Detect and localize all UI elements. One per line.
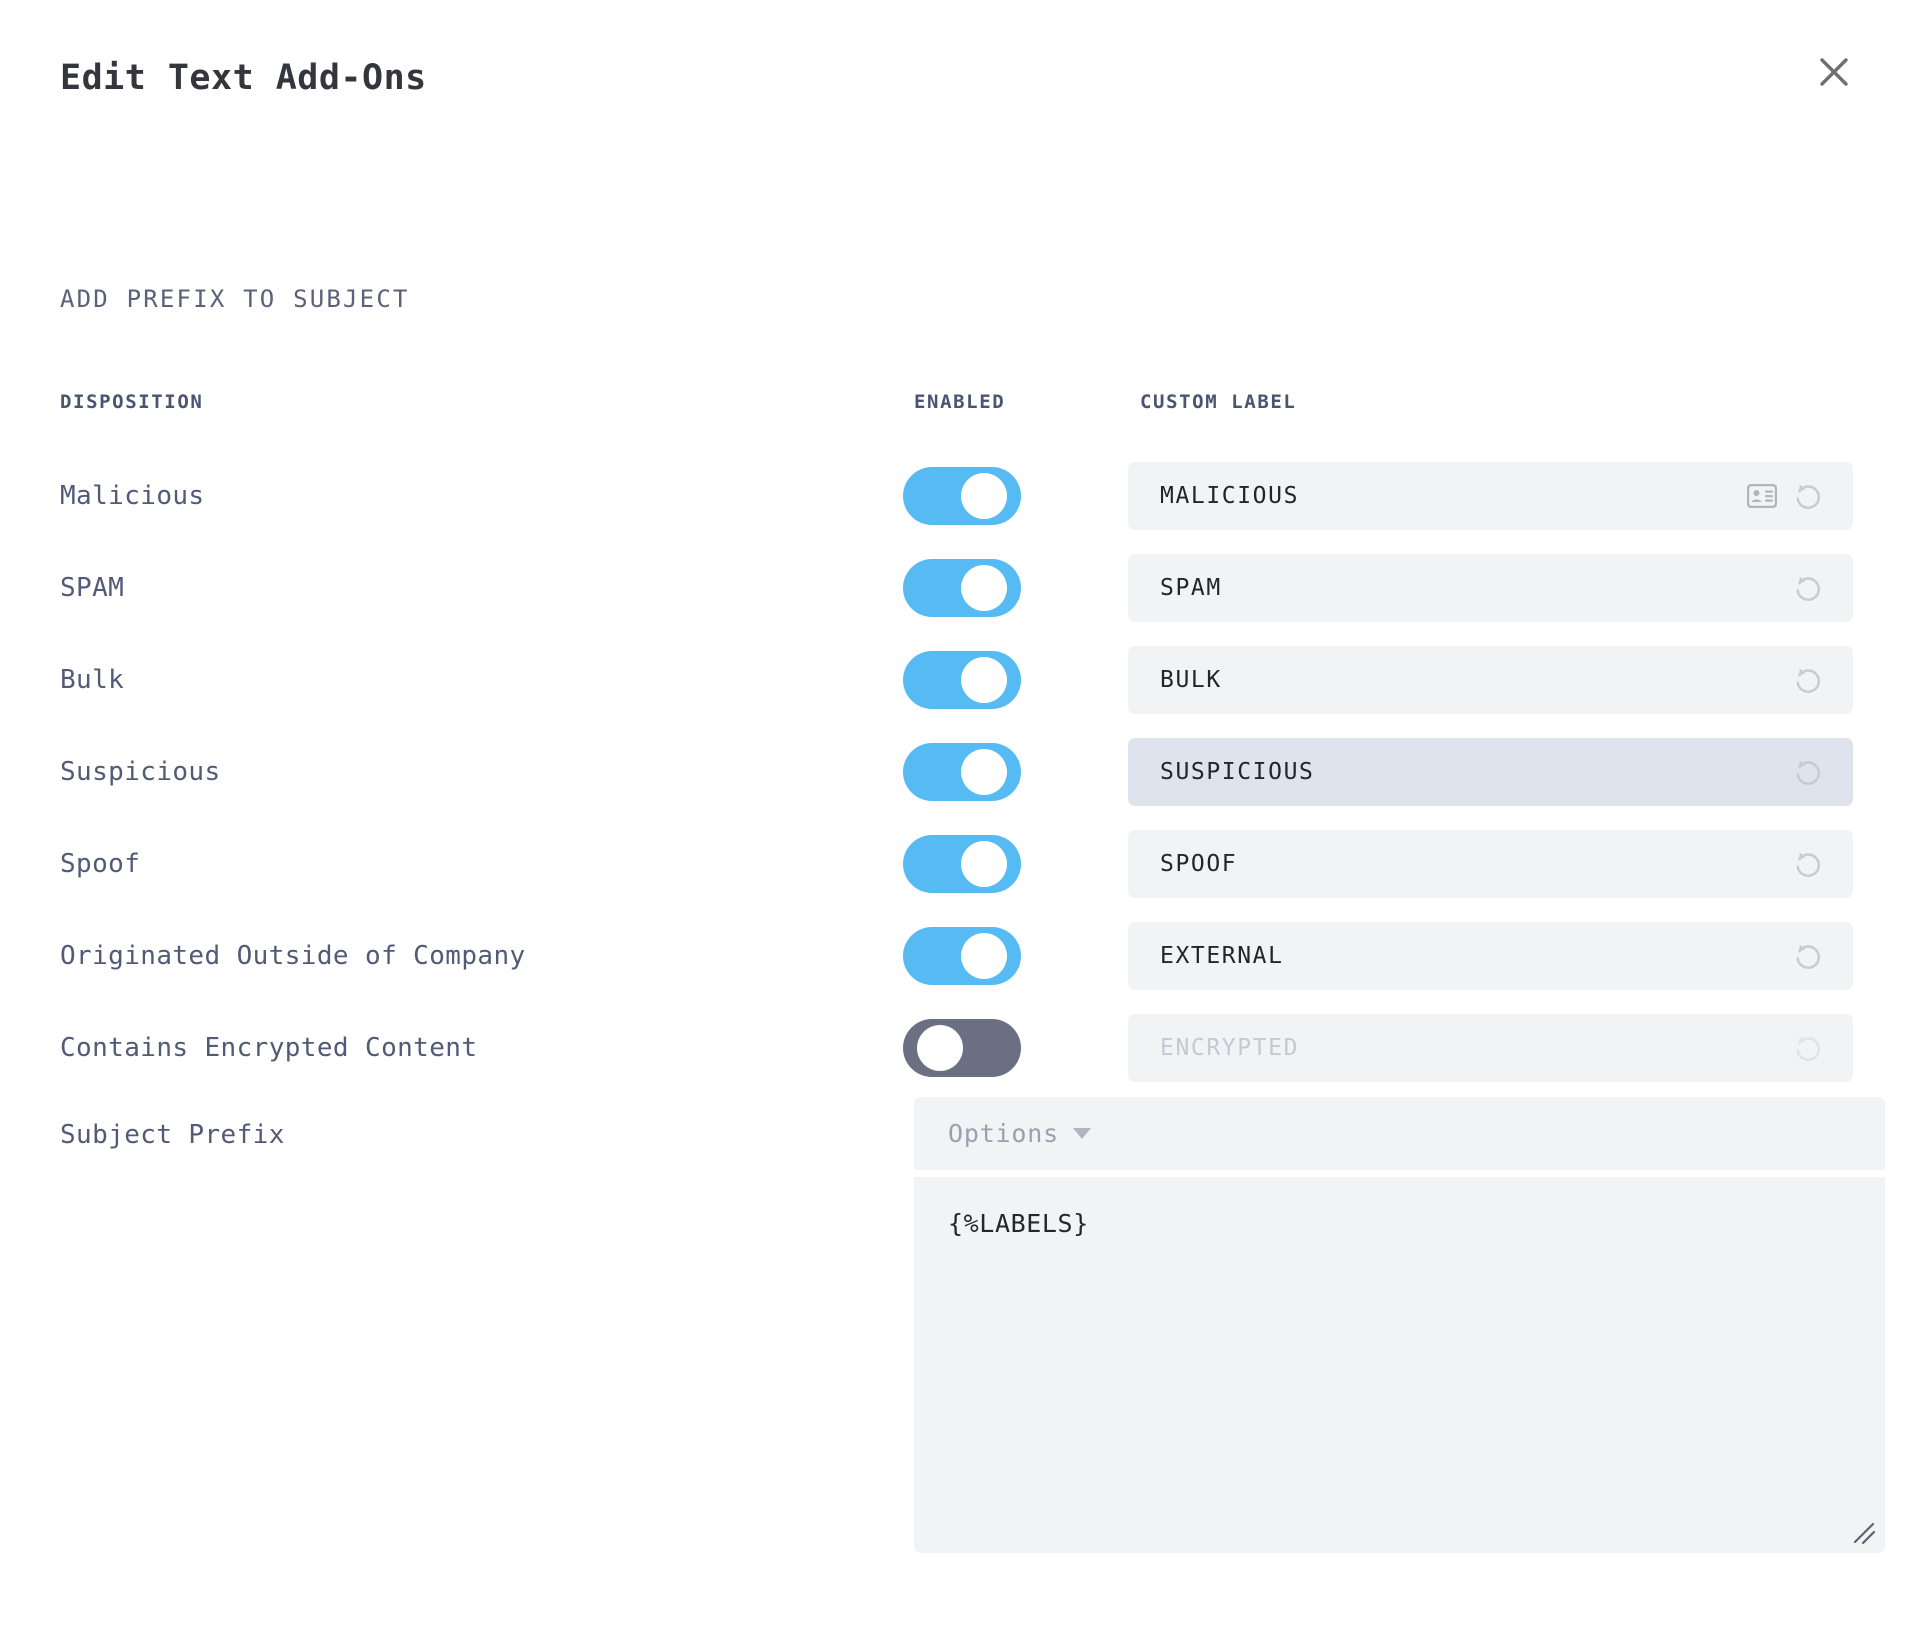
field-icon-group — [1791, 571, 1825, 605]
custom-label-input[interactable]: BULK — [1128, 646, 1853, 714]
toggle-knob — [917, 1025, 963, 1071]
table-row: MaliciousMALICIOUS — [0, 462, 1908, 530]
table-row: SuspiciousSUSPICIOUS — [0, 738, 1908, 806]
table-row: SpoofSPOOF — [0, 830, 1908, 898]
reset-icon[interactable] — [1791, 939, 1825, 973]
toggle-knob — [961, 841, 1007, 887]
chevron-down-icon — [1073, 1128, 1091, 1139]
field-icon-group — [1791, 663, 1825, 697]
resize-grip-icon[interactable] — [1851, 1520, 1877, 1546]
custom-label-value: SPOOF — [1160, 851, 1791, 877]
custom-label-value: SUSPICIOUS — [1160, 759, 1791, 785]
toggle-knob — [961, 749, 1007, 795]
custom-label-input: ENCRYPTED — [1128, 1014, 1853, 1082]
enabled-toggle[interactable] — [903, 559, 1021, 617]
custom-label-input[interactable]: SPOOF — [1128, 830, 1853, 898]
custom-label-value: SPAM — [1160, 575, 1791, 601]
table-row: BulkBULK — [0, 646, 1908, 714]
toggle-knob — [961, 565, 1007, 611]
disposition-label: Suspicious — [60, 757, 221, 787]
close-icon — [1817, 55, 1851, 89]
toggle-knob — [961, 473, 1007, 519]
enabled-toggle[interactable] — [903, 835, 1021, 893]
custom-label-value: BULK — [1160, 667, 1791, 693]
toggle-knob — [961, 657, 1007, 703]
enabled-toggle[interactable] — [903, 1019, 1021, 1077]
subject-prefix-label: Subject Prefix — [60, 1120, 285, 1150]
disposition-label: Bulk — [60, 665, 124, 695]
custom-label-input[interactable]: EXTERNAL — [1128, 922, 1853, 990]
enabled-toggle[interactable] — [903, 927, 1021, 985]
enabled-toggle[interactable] — [903, 743, 1021, 801]
custom-label-value: MALICIOUS — [1160, 483, 1747, 509]
disposition-label: SPAM — [60, 573, 124, 603]
column-header-disposition: DISPOSITION — [60, 391, 203, 413]
disposition-label: Malicious — [60, 481, 204, 511]
enabled-toggle[interactable] — [903, 651, 1021, 709]
disposition-label: Contains Encrypted Content — [60, 1033, 477, 1063]
field-icon-group — [1747, 479, 1825, 513]
field-icon-group — [1791, 847, 1825, 881]
reset-icon[interactable] — [1791, 571, 1825, 605]
disposition-label: Spoof — [60, 849, 140, 879]
disposition-label: Originated Outside of Company — [60, 941, 526, 971]
table-row: Originated Outside of CompanyEXTERNAL — [0, 922, 1908, 990]
custom-label-input[interactable]: SUSPICIOUS — [1128, 738, 1853, 806]
field-icon-group — [1791, 939, 1825, 973]
reset-icon[interactable] — [1791, 755, 1825, 789]
subject-prefix-textarea-value: {%LABELS} — [948, 1209, 1089, 1238]
custom-label-input[interactable]: SPAM — [1128, 554, 1853, 622]
subject-prefix-textarea[interactable]: {%LABELS} — [914, 1177, 1885, 1553]
custom-label-value: EXTERNAL — [1160, 943, 1791, 969]
reset-icon[interactable] — [1791, 847, 1825, 881]
custom-label-value: ENCRYPTED — [1160, 1035, 1791, 1061]
field-icon-group — [1791, 1031, 1825, 1065]
reset-icon[interactable] — [1791, 479, 1825, 513]
options-dropdown-label: Options — [948, 1119, 1059, 1148]
close-button[interactable] — [1802, 40, 1866, 104]
toggle-knob — [961, 933, 1007, 979]
column-header-enabled: ENABLED — [914, 391, 1005, 413]
contact-card-icon[interactable] — [1747, 484, 1777, 508]
table-row: SPAMSPAM — [0, 554, 1908, 622]
page-title: Edit Text Add-Ons — [60, 58, 427, 98]
custom-label-input[interactable]: MALICIOUS — [1128, 462, 1853, 530]
options-dropdown[interactable]: Options — [914, 1097, 1885, 1170]
table-row: Contains Encrypted ContentENCRYPTED — [0, 1014, 1908, 1082]
field-icon-group — [1791, 755, 1825, 789]
reset-icon — [1791, 1031, 1825, 1065]
enabled-toggle[interactable] — [903, 467, 1021, 525]
reset-icon[interactable] — [1791, 663, 1825, 697]
section-heading: ADD PREFIX TO SUBJECT — [60, 285, 410, 313]
column-header-custom-label: CUSTOM LABEL — [1140, 391, 1296, 413]
